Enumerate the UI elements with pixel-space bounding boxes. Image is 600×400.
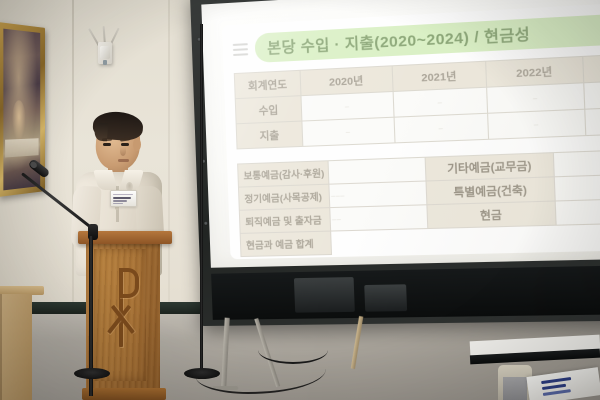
income-expense-table: 회계연도 2020년 2021년 2022년 2023년 수입 – – – – (234, 51, 600, 149)
side-table-body (0, 294, 32, 400)
ear (133, 138, 141, 151)
eye-left (103, 143, 111, 146)
deposit-label-total: 현금과 예금 합계 (240, 231, 331, 256)
slide-title-pill: 본당 수입 · 지출(2020~2024) / 현금성 (254, 10, 600, 63)
ap-led (103, 60, 107, 65)
deposit-spacer-1 (428, 225, 557, 252)
microphone-base (74, 368, 110, 379)
deposit-value-total (331, 229, 429, 255)
deposit-value-special (554, 173, 600, 202)
hamburger-icon[interactable] (233, 43, 248, 56)
name-badge (110, 190, 137, 207)
screen-surface: 본당 수입 · 지출(2020~2024) / 현금성 회계연도 2020년 2… (201, 0, 600, 268)
slide-title: 본당 수입 · 지출(2020~2024) / 현금성 (267, 26, 531, 57)
deposit-value-retirement: –– (330, 205, 428, 231)
slide-content: 본당 수입 · 지출(2020~2024) / 현금성 회계연도 2020년 2… (222, 3, 600, 259)
col-header-year: 회계연도 (234, 70, 301, 98)
side-table (0, 286, 42, 400)
equipment-box (364, 284, 407, 311)
projection-screen: 본당 수입 · 지출(2020~2024) / 현금성 회계연도 2020년 2… (190, 0, 600, 326)
cell-income-2022: – (487, 83, 585, 113)
deposit-value-cash (555, 197, 600, 225)
cell-income-2021: – (393, 87, 488, 117)
podium-base (82, 388, 166, 400)
deposit-value-other (553, 148, 600, 177)
cell-expense-2020: – (302, 117, 395, 146)
row-label-expense: 지출 (236, 121, 303, 149)
painting-table (5, 139, 39, 158)
row-label-income: 수입 (235, 96, 302, 124)
deposit-label-retirement: 퇴직예금 및 출자금 (239, 208, 330, 234)
deposit-label-ordinary: 보통예금(감사·후원) (238, 161, 329, 187)
nose (120, 147, 126, 156)
second-mic-stand (200, 24, 203, 376)
audio-cable (258, 336, 328, 364)
slide-title-row: 본당 수입 · 지출(2020~2024) / 현금성 (232, 10, 600, 64)
cell-expense-2022: – (488, 109, 586, 139)
cell-expense-2021: – (394, 113, 489, 143)
hair (92, 110, 144, 141)
ap-body (100, 46, 110, 59)
mouth (118, 159, 129, 162)
wireless-access-point (95, 36, 115, 66)
col-header-2023: 2023년 (582, 52, 600, 83)
deposit-value-ordinary (328, 157, 426, 184)
deposit-label-fixed: 정기예금(사목공제) (238, 184, 329, 210)
presentation-photo: 본당 수입 · 지출(2020~2024) / 현금성 회계연도 2020년 2… (0, 0, 600, 400)
deposits-table: 보통예금(감사·후원) 기타예금(교무금) 정기예금(사목공제) ––– 특별예… (237, 147, 600, 257)
deposit-value-fixed: ––– (329, 181, 427, 208)
screen-lower-dark-area (211, 265, 600, 319)
deposit-spacer-2 (556, 222, 600, 250)
eye-right (121, 143, 129, 146)
side-table-shadow (0, 294, 2, 400)
equipment-box (294, 277, 355, 313)
cell-income-2020: – (301, 92, 394, 122)
cell-expense-2023: – (584, 105, 600, 136)
slide: 본당 수입 · 지출(2020~2024) / 현금성 회계연도 2020년 2… (222, 3, 600, 259)
chi-rho-icon (104, 265, 138, 351)
painting-figure (12, 100, 26, 142)
cell-income-2023: – (583, 78, 600, 109)
deposit-label-cash: 현금 (427, 201, 556, 229)
